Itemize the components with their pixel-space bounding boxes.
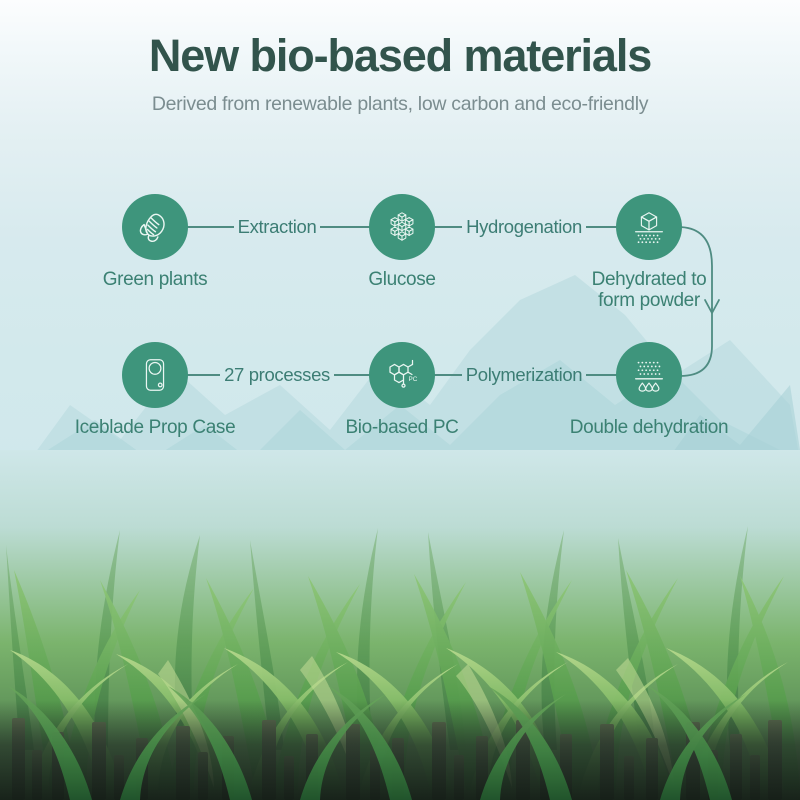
phone-case-icon — [136, 356, 174, 394]
connector-label: Extraction — [234, 216, 321, 238]
flow-node-dehydrated-powder[interactable]: Dehydrated to form powder — [564, 194, 734, 312]
flow-node-label: Double dehydration — [564, 417, 734, 438]
corn-cob-icon — [136, 208, 174, 246]
flow-node-icon-circle — [122, 342, 188, 408]
header: New bio-based materials Derived from ren… — [0, 32, 800, 116]
flow-node-label: Dehydrated to form powder — [564, 269, 734, 312]
sugar-cubes-icon — [383, 208, 421, 246]
flow-node-label: Green plants — [70, 269, 240, 290]
flow-node-icon-circle — [122, 194, 188, 260]
sugarcane-field-photo — [0, 450, 800, 800]
flow-node-icon-circle — [616, 342, 682, 408]
flow-node-label: Glucose — [317, 269, 487, 290]
flow-node-double-dehydration[interactable]: Double dehydration — [564, 342, 734, 438]
flow-node-label: Bio-based PC — [317, 417, 487, 438]
polymer-molecule-icon: PC — [382, 355, 422, 395]
flow-node-bio-based-pc[interactable]: PC Bio-based PC — [317, 342, 487, 438]
flow-node-icon-circle: PC — [369, 342, 435, 408]
flow-node-iceblade-prop-case[interactable]: Iceblade Prop Case — [70, 342, 240, 438]
flow-node-icon-circle — [369, 194, 435, 260]
flow-node-green-plants[interactable]: Green plants — [70, 194, 240, 290]
flow-node-glucose[interactable]: Glucose — [317, 194, 487, 290]
infographic-poster: New bio-based materials Derived from ren… — [0, 0, 800, 800]
flow-node-label: Iceblade Prop Case — [70, 417, 240, 438]
process-flow-diagram: Extraction Hydrogenation 27 processes Po… — [0, 180, 800, 450]
flow-node-icon-circle — [616, 194, 682, 260]
cube-over-powder-icon — [630, 208, 668, 246]
page-subtitle: Derived from renewable plants, low carbo… — [0, 93, 800, 116]
polymer-pc-text: PC — [409, 376, 418, 383]
page-title: New bio-based materials — [0, 32, 800, 79]
powder-over-droplets-icon — [630, 356, 668, 394]
